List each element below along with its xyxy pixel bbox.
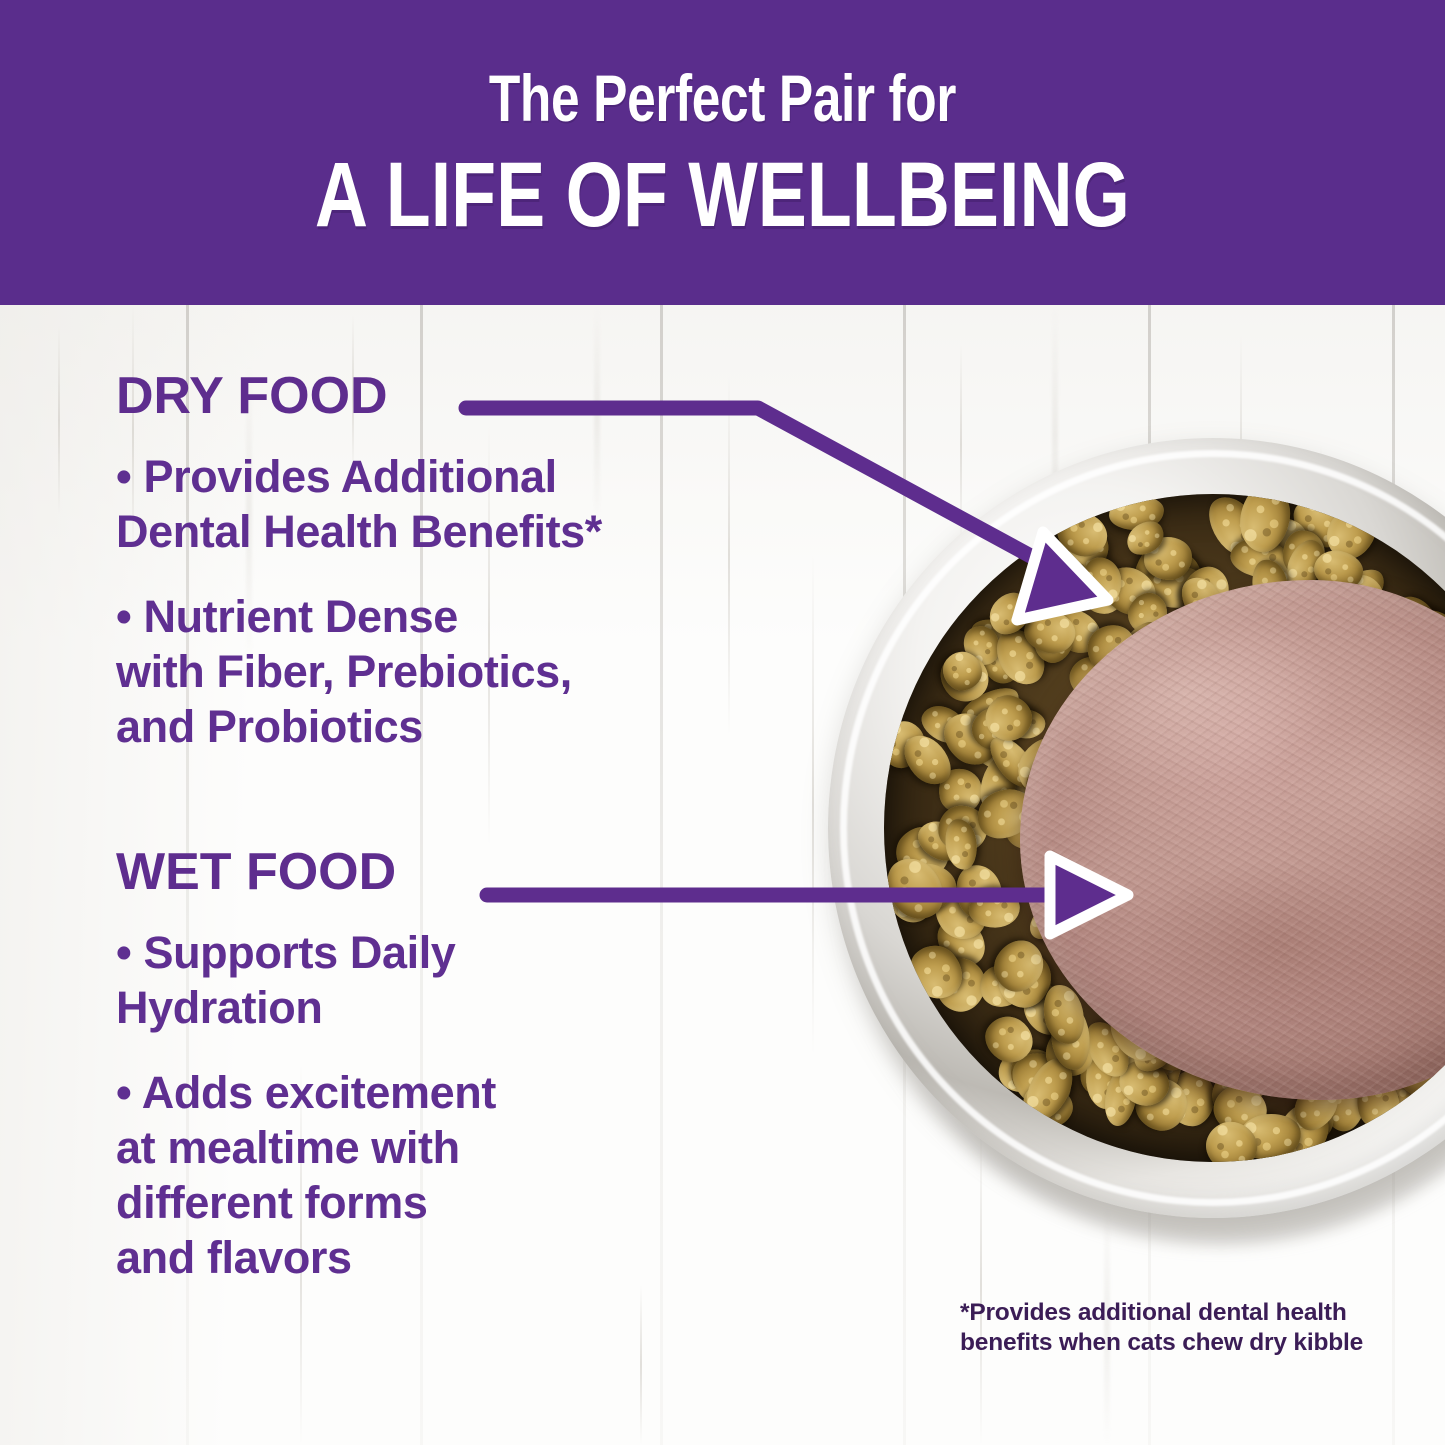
list-item: • Supports Daily Hydration <box>116 926 816 1036</box>
list-item: • Provides Additional Dental Health Bene… <box>116 450 816 560</box>
bullet-line: and Probiotics <box>116 701 423 752</box>
bullet-line: Adds excitement <box>142 1067 496 1118</box>
bullet-dot: • <box>116 927 131 978</box>
bullet-line: Provides Additional <box>143 451 556 502</box>
section-title-wet-food: WET FOOD <box>116 846 816 898</box>
dry-food-bullet-list: • Provides Additional Dental Health Bene… <box>116 450 816 754</box>
benefits-copy-column: DRY FOOD • Provides Additional Dental He… <box>116 370 816 1316</box>
header-line-2: A LIFE OF WELLBEING <box>315 149 1130 241</box>
bullet-line: Nutrient Dense <box>143 591 457 642</box>
bullet-line: and flavors <box>116 1232 352 1283</box>
bullet-dot: • <box>116 451 131 502</box>
section-spacer <box>116 784 816 846</box>
list-item: • Adds excitement at mealtime with diffe… <box>116 1066 816 1286</box>
bullet-line: with Fiber, Prebiotics, <box>116 646 572 697</box>
bullet-line: at mealtime with <box>116 1122 460 1173</box>
footnote-line-1: *Provides additional dental health <box>960 1298 1380 1328</box>
wet-food-bullet-list: • Supports Daily Hydration • Adds excite… <box>116 926 816 1285</box>
footnote: *Provides additional dental health benef… <box>960 1298 1380 1358</box>
bullet-line: Supports Daily <box>143 927 455 978</box>
bowl-interior <box>884 494 1445 1162</box>
header-banner: The Perfect Pair for A LIFE OF WELLBEING <box>0 0 1445 305</box>
kibble-piece <box>968 889 1020 928</box>
cat-food-bowl-image <box>828 438 1445 1244</box>
bullet-line: Dental Health Benefits* <box>116 506 602 557</box>
header-line-1: The Perfect Pair for <box>489 65 956 131</box>
product-benefits-infographic: The Perfect Pair for A LIFE OF WELLBEING… <box>0 0 1445 1445</box>
bullet-line: different forms <box>116 1177 428 1228</box>
footnote-line-2: benefits when cats chew dry kibble <box>960 1328 1380 1358</box>
section-title-dry-food: DRY FOOD <box>116 370 816 422</box>
bullet-line: Hydration <box>116 982 322 1033</box>
bullet-dot: • <box>116 591 131 642</box>
bullet-dot: • <box>116 1067 131 1118</box>
list-item: • Nutrient Dense with Fiber, Prebiotics,… <box>116 590 816 755</box>
